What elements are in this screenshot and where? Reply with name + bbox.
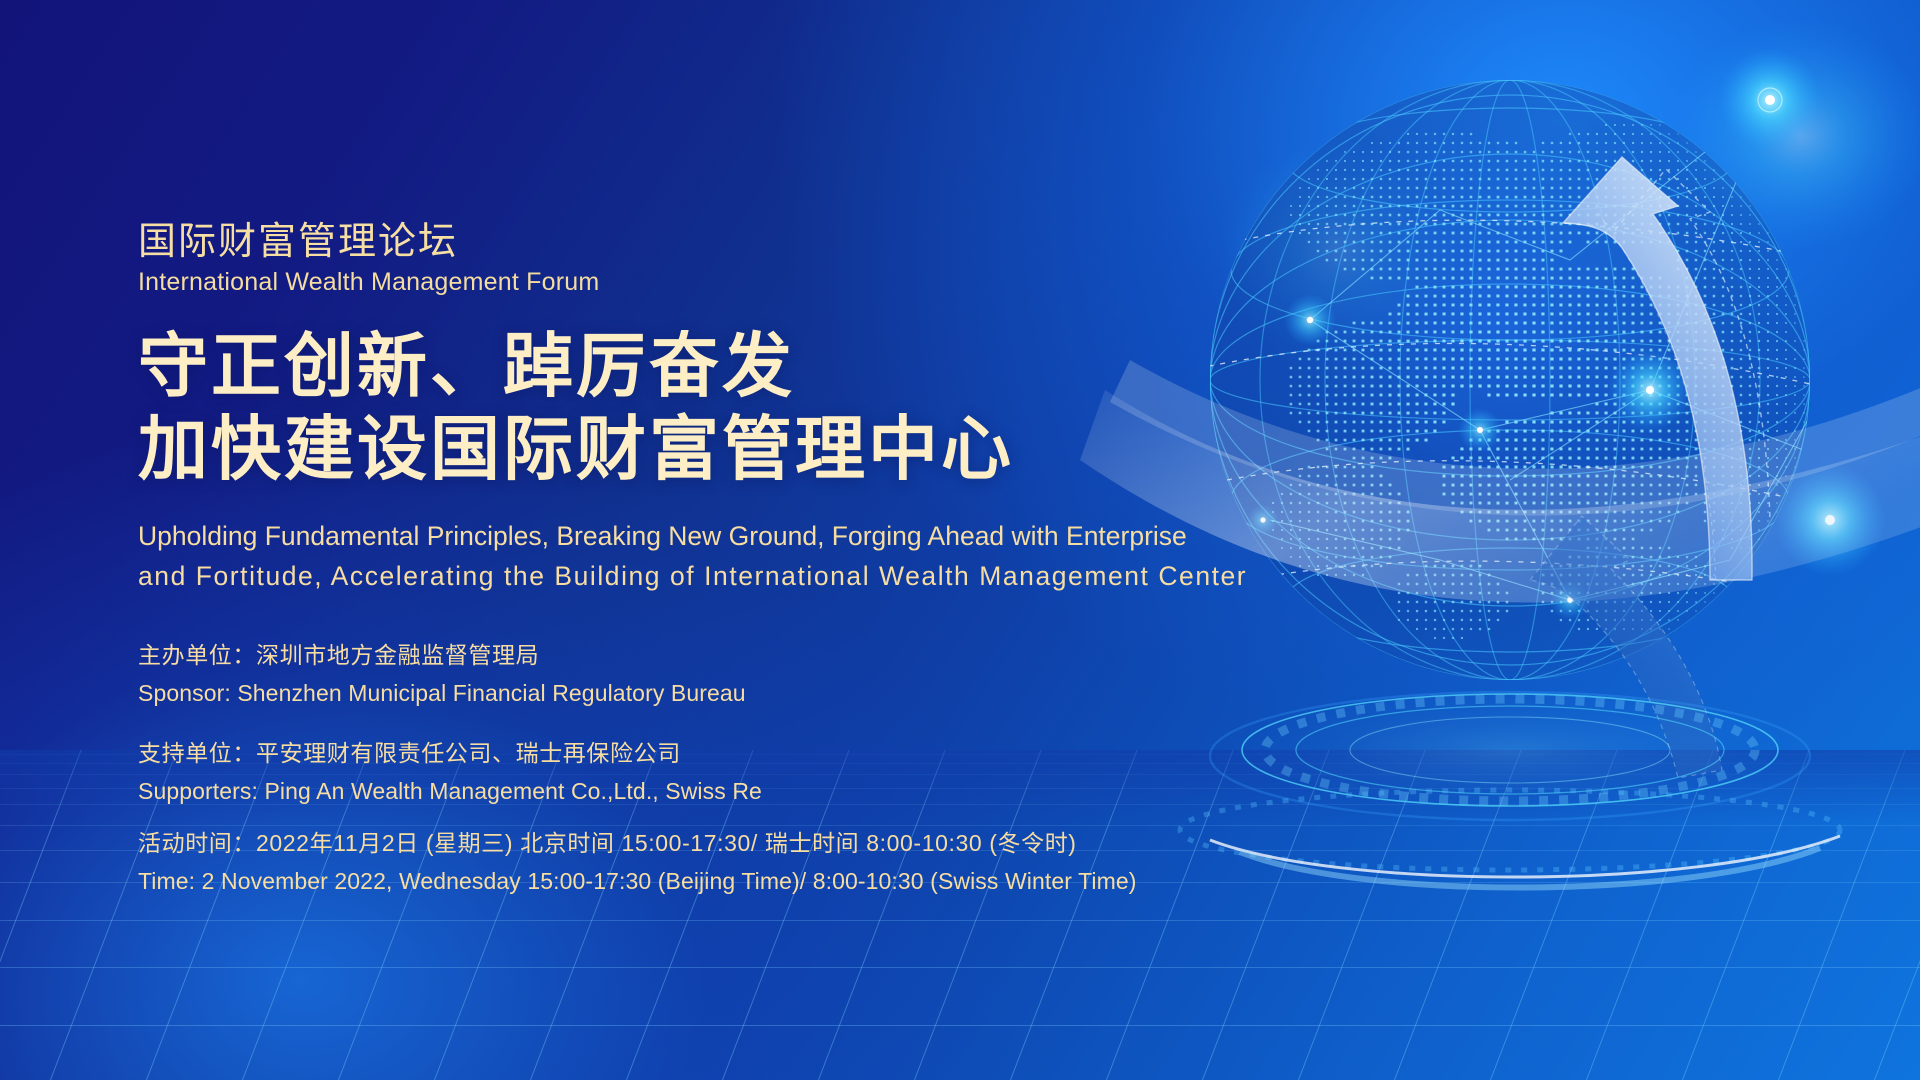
sponsor-cn: 主办单位：深圳市地方金融监督管理局 [138, 636, 746, 670]
time-cn: 活动时间：2022年11月2日 (星期三) 北京时间 15:00-17:30/ … [138, 824, 1137, 858]
upward-arrows-icon [1563, 157, 1752, 585]
headline-line1: 守正创新、踔厉奋发 [138, 327, 795, 405]
secondary-arrow-icon [1530, 516, 1722, 778]
headline: 守正创新、踔厉奋发 加快建设国际财富管理中心 [138, 325, 1014, 490]
sponsor-en: Sponsor: Shenzhen Municipal Financial Re… [138, 680, 746, 707]
forum-name-en: International Wealth Management Forum [138, 268, 599, 297]
poster-text-content: 国际财富管理论坛 International Wealth Management… [138, 0, 1238, 1080]
sponsor-block: 主办单位：深圳市地方金融监督管理局 Sponsor: Shenzhen Muni… [138, 636, 746, 707]
forum-name-cn: 国际财富管理论坛 [138, 210, 458, 265]
time-en: Time: 2 November 2022, Wednesday 15:00-1… [138, 868, 1137, 895]
headline-english: Upholding Fundamental Principles, Breaki… [138, 516, 1198, 597]
hologram-base-rings-icon [1180, 688, 1840, 888]
supporter-en: Supporters: Ping An Wealth Management Co… [138, 778, 762, 805]
headline-english-line2: and Fortitude, Accelerating the Building… [138, 556, 1198, 596]
outline-arrow-icon [1615, 169, 1770, 520]
headline-line2: 加快建设国际财富管理中心 [138, 408, 1014, 491]
supporter-cn: 支持单位：平安理财有限责任公司、瑞士再保险公司 [138, 734, 762, 768]
time-block: 活动时间：2022年11月2日 (星期三) 北京时间 15:00-17:30/ … [138, 824, 1137, 895]
headline-english-line1: Upholding Fundamental Principles, Breaki… [138, 516, 1198, 556]
supporter-block: 支持单位：平安理财有限责任公司、瑞士再保险公司 Supporters: Ping… [138, 734, 762, 805]
event-poster: 国际财富管理论坛 International Wealth Management… [0, 0, 1920, 1080]
